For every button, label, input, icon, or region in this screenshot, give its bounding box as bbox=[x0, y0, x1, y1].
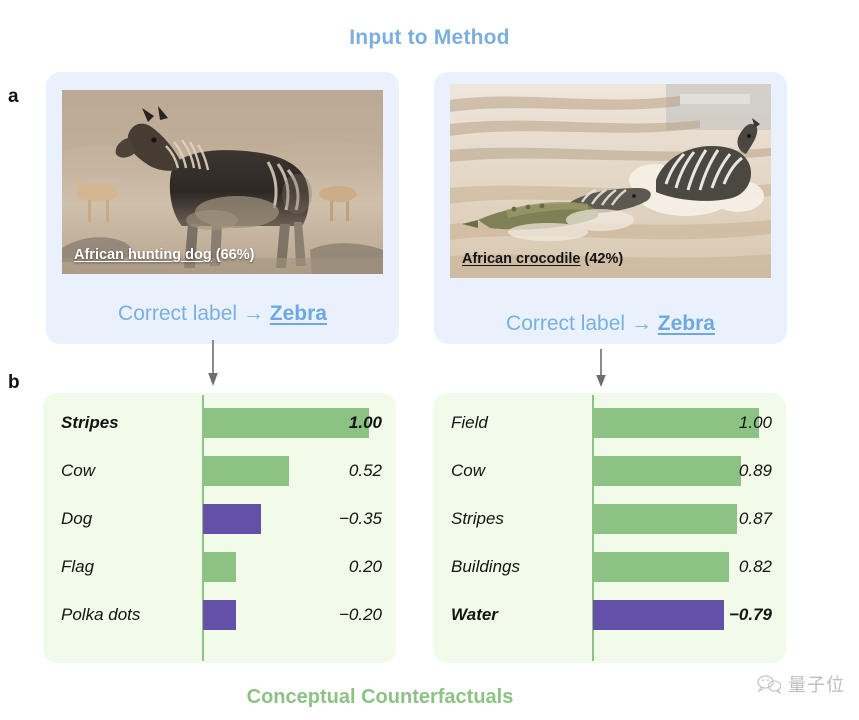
bar-category-label: Dog bbox=[61, 509, 92, 529]
input-photo-right: African crocodile (42%) bbox=[450, 84, 771, 278]
prediction-caption-right: African crocodile (42%) bbox=[462, 251, 623, 267]
bar-category-label: Stripes bbox=[451, 509, 504, 529]
bar-value-label: −0.35 bbox=[339, 509, 382, 529]
chart-row: Field 1.00 bbox=[433, 400, 786, 446]
bar-category-label: Cow bbox=[451, 461, 485, 481]
connector-arrow-right bbox=[592, 349, 610, 394]
bar-value-label: −0.79 bbox=[729, 605, 772, 625]
chart-plot-area-left: Stripes 1.00 Cow 0.52 Dog −0.35 Flag 0.2… bbox=[43, 393, 396, 663]
bar-rect bbox=[203, 504, 261, 534]
chart-row: Flag 0.20 bbox=[43, 544, 396, 590]
down-arrow-icon bbox=[592, 349, 610, 389]
bar-category-label: Water bbox=[451, 605, 498, 625]
counterfactual-chart-left: Stripes 1.00 Cow 0.52 Dog −0.35 Flag 0.2… bbox=[43, 393, 396, 663]
down-arrow-icon bbox=[204, 340, 222, 388]
page-title: Input to Method bbox=[0, 26, 859, 50]
correct-label-left: Correct label → Zebra bbox=[46, 302, 399, 326]
correct-label-prefix-left: Correct label bbox=[118, 302, 237, 325]
chart-row: Buildings 0.82 bbox=[433, 544, 786, 590]
bar-category-label: Cow bbox=[61, 461, 95, 481]
bar-rect bbox=[593, 504, 737, 534]
bar-rect bbox=[203, 456, 289, 486]
predicted-class-left: African hunting dog bbox=[74, 247, 212, 263]
bar-category-label: Buildings bbox=[451, 557, 520, 577]
bar-rect bbox=[593, 408, 759, 438]
prediction-confidence-right: (42%) bbox=[584, 251, 623, 267]
input-photo-left: African hunting dog (66%) bbox=[62, 90, 383, 274]
bar-category-label: Stripes bbox=[61, 413, 119, 433]
bar-category-label: Polka dots bbox=[61, 605, 140, 625]
correct-label-right: Correct label → Zebra bbox=[434, 312, 787, 336]
bar-rect bbox=[203, 600, 236, 630]
bar-value-label: 1.00 bbox=[349, 413, 382, 433]
chart-row: Cow 0.52 bbox=[43, 448, 396, 494]
correct-label-prefix-right: Correct label bbox=[506, 312, 625, 335]
correct-label-value-right: Zebra bbox=[658, 312, 715, 335]
bar-value-label: 0.89 bbox=[739, 461, 772, 481]
bar-rect bbox=[593, 456, 741, 486]
bar-value-label: 0.82 bbox=[739, 557, 772, 577]
bar-category-label: Flag bbox=[61, 557, 94, 577]
bar-value-label: 0.87 bbox=[739, 509, 772, 529]
input-card-left: African hunting dog (66%) Correct label … bbox=[46, 72, 399, 344]
watermark-text: 量子位 bbox=[788, 671, 845, 697]
bar-rect bbox=[203, 552, 236, 582]
prediction-caption-left: African hunting dog (66%) bbox=[74, 247, 254, 263]
chart-row: Water −0.79 bbox=[433, 592, 786, 638]
chart-row: Dog −0.35 bbox=[43, 496, 396, 542]
bar-value-label: 0.52 bbox=[349, 461, 382, 481]
predicted-class-right: African crocodile bbox=[462, 251, 580, 267]
input-card-right: African crocodile (42%) Correct label → … bbox=[434, 72, 787, 344]
crocodile-attacking-zebra-photo bbox=[450, 84, 771, 278]
bar-rect bbox=[593, 600, 724, 630]
bar-value-label: 0.20 bbox=[349, 557, 382, 577]
chart-plot-area-right: Field 1.00 Cow 0.89 Stripes 0.87 Buildin… bbox=[433, 393, 786, 663]
bar-value-label: 1.00 bbox=[739, 413, 772, 433]
panel-label-b: b bbox=[8, 372, 20, 394]
right-arrow-icon: → bbox=[631, 312, 652, 335]
figure-footer-caption: Conceptual Counterfactuals bbox=[0, 686, 760, 709]
bar-rect bbox=[593, 552, 729, 582]
connector-arrow-left bbox=[204, 340, 222, 393]
chart-row: Polka dots −0.20 bbox=[43, 592, 396, 638]
counterfactual-chart-right: Field 1.00 Cow 0.89 Stripes 0.87 Buildin… bbox=[433, 393, 786, 663]
panel-label-a: a bbox=[8, 86, 19, 108]
watermark: 量子位 bbox=[756, 671, 845, 697]
prediction-confidence-left: (66%) bbox=[216, 247, 255, 263]
bar-category-label: Field bbox=[451, 413, 488, 433]
wechat-logo-icon bbox=[756, 674, 782, 694]
chart-row: Stripes 1.00 bbox=[43, 400, 396, 446]
chart-row: Cow 0.89 bbox=[433, 448, 786, 494]
chart-row: Stripes 0.87 bbox=[433, 496, 786, 542]
right-arrow-icon: → bbox=[243, 302, 264, 325]
bar-value-label: −0.20 bbox=[339, 605, 382, 625]
correct-label-value-left: Zebra bbox=[270, 302, 327, 325]
bar-rect bbox=[203, 408, 369, 438]
